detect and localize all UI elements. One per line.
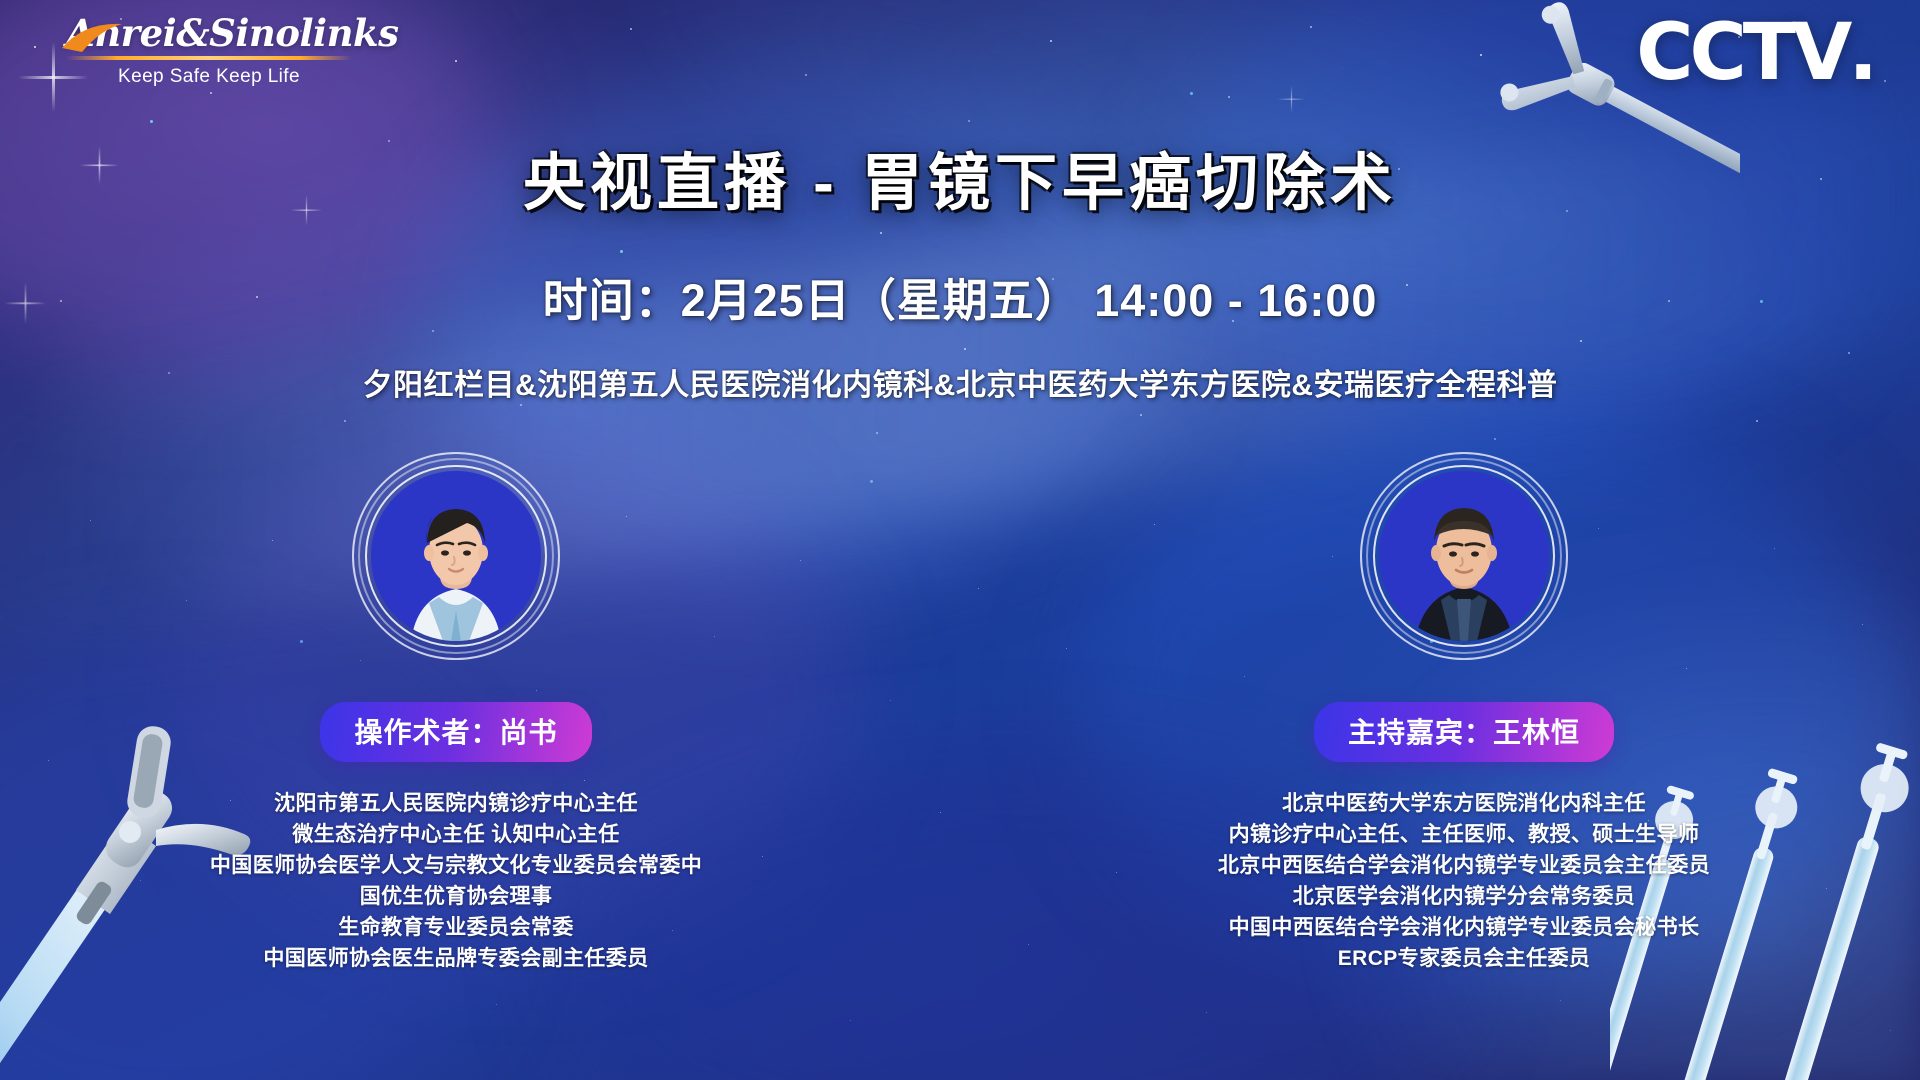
credential-line: ERCP专家委员会主任委员 <box>1218 943 1710 974</box>
starfield <box>0 0 1 1</box>
starfield-bright <box>0 0 3 3</box>
speaker-role-badge: 操作术者：尚书 <box>320 702 591 762</box>
speakers-row: 操作术者：尚书 沈阳市第五人民医院内镜诊疗中心主任 微生态治疗中心主任 认知中心… <box>0 452 1920 974</box>
speaker-role-badge: 主持嘉宾：王林恒 <box>1314 702 1614 762</box>
credential-line: 国优生优育协会理事 <box>210 881 702 912</box>
cctv-logo-dot: . <box>1848 8 1878 98</box>
credential-line: 微生态治疗中心主任 认知中心主任 <box>210 819 702 850</box>
credential-line: 生命教育专业委员会常委 <box>210 912 702 943</box>
organizers-line: 夕阳红栏目&沈阳第五人民医院消化内镜科&北京中医药大学东方医院&安瑞医疗全程科普 <box>0 360 1920 404</box>
starfield <box>0 0 2 2</box>
speaker-card-host: 主持嘉宾：王林恒 北京中医药大学东方医院消化内科主任 内镜诊疗中心主任、主任医师… <box>960 452 1920 974</box>
cctv-logo: CCTV. <box>1636 14 1878 92</box>
sponsor-tagline: Keep Safe Keep Life <box>66 66 352 88</box>
credential-line: 内镜诊疗中心主任、主任医师、教授、硕士生导师 <box>1218 819 1710 850</box>
avatar-photo-host <box>1379 471 1549 641</box>
broadcast-time: 时间：2月25日（星期五） 14:00 - 16:00 <box>0 264 1920 329</box>
sponsor-logo: Anrei&Sinolinks Keep Safe Keep Life <box>66 14 366 88</box>
logo-divider <box>66 56 352 60</box>
speaker-credentials: 沈阳市第五人民医院内镜诊疗中心主任 微生态治疗中心主任 认知中心主任 中国医师协… <box>210 788 702 974</box>
credential-line: 中国医师协会医生品牌专委会副主任委员 <box>210 943 702 974</box>
cctv-logo-text: CCTV <box>1636 8 1848 98</box>
credential-line: 北京中医药大学东方医院消化内科主任 <box>1218 788 1710 819</box>
credential-line: 沈阳市第五人民医院内镜诊疗中心主任 <box>210 788 702 819</box>
avatar <box>352 452 560 660</box>
livestream-poster: Anrei&Sinolinks Keep Safe Keep Life CCTV… <box>0 0 1920 1080</box>
sparkle-icon <box>1291 85 1292 113</box>
page-title: 央视直播 - 胃镜下早癌切除术 <box>0 132 1920 222</box>
sparkle-icon <box>52 42 55 112</box>
credential-line: 中国医师协会医学人文与宗教文化专业委员会常委中 <box>210 850 702 881</box>
credential-line: 北京中西医结合学会消化内镜学专业委员会主任委员 <box>1218 850 1710 881</box>
credential-line: 中国中西医结合学会消化内镜学专业委员会秘书长 <box>1218 912 1710 943</box>
speaker-card-operator: 操作术者：尚书 沈阳市第五人民医院内镜诊疗中心主任 微生态治疗中心主任 认知中心… <box>0 452 960 974</box>
avatar-photo-operator <box>371 471 541 641</box>
speaker-credentials: 北京中医药大学东方医院消化内科主任 内镜诊疗中心主任、主任医师、教授、硕士生导师… <box>1218 788 1710 974</box>
sponsor-logo-text: Anrei&Sinolinks <box>66 14 366 53</box>
credential-line: 北京医学会消化内镜学分会常务委员 <box>1218 881 1710 912</box>
avatar <box>1360 452 1568 660</box>
